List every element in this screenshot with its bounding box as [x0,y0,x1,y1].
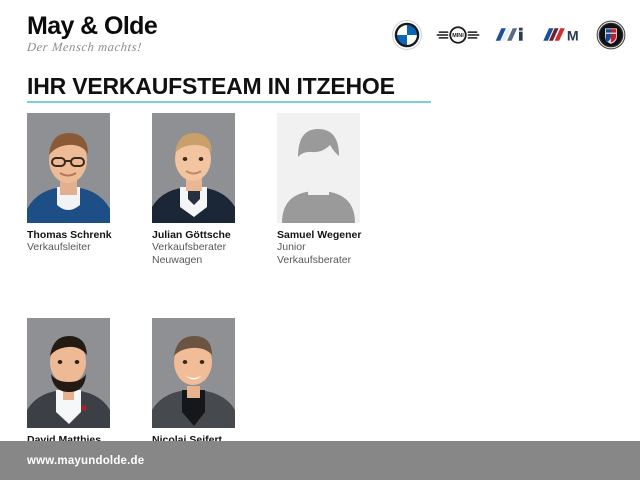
member-photo [152,113,235,223]
bmw-logo [392,20,422,55]
member-name: Julian Göttsche [152,229,235,241]
member-photo-placeholder [277,113,360,223]
team-grid: Thomas Schrenk Verkaufsleiter [27,113,617,471]
member-role-line-1: Junior [277,241,360,253]
team-member-card[interactable]: Thomas Schrenk Verkaufsleiter [27,113,110,254]
member-name: Samuel Wegener [277,229,360,241]
team-member-card[interactable]: Julian Göttsche Verkaufsberater Neuwagen [152,113,235,266]
mini-logo: MINI [436,22,480,53]
manufacturer-logo-strip: MINI M [392,18,626,56]
page-footer: www.mayundolde.de [0,441,640,480]
page-header: May & Olde Der Mensch machts! [0,0,640,66]
website-url[interactable]: www.mayundolde.de [27,455,144,467]
team-member-card[interactable]: Samuel Wegener Junior Verkaufsberater [277,113,360,266]
brand-name: May & Olde [27,14,247,39]
alpina-logo [596,20,626,55]
member-role-line-1: Verkaufsberater [152,241,235,253]
bmw-i-logo [494,26,528,48]
member-role-line-2: Neuwagen [152,254,235,266]
member-name: Thomas Schrenk [27,229,110,241]
member-role-line-1: Verkaufsleiter [27,241,110,253]
title-underline [27,101,431,103]
page-title-block: IHR VERKAUFSTEAM IN ITZEHOE [27,74,613,103]
svg-text:M: M [567,29,579,43]
page-title: IHR VERKAUFSTEAM IN ITZEHOE [27,74,613,98]
svg-text:MINI: MINI [452,32,464,38]
member-photo [152,318,235,428]
member-photo [27,318,110,428]
brand-tagline: Der Mensch machts! [26,40,248,55]
member-photo [27,113,110,223]
brand-logo[interactable]: May & Olde Der Mensch machts! [27,14,247,55]
bmw-m-logo: M [542,26,582,48]
team-row: Thomas Schrenk Verkaufsleiter [27,113,617,266]
member-role-line-2: Verkaufsberater [277,254,360,266]
